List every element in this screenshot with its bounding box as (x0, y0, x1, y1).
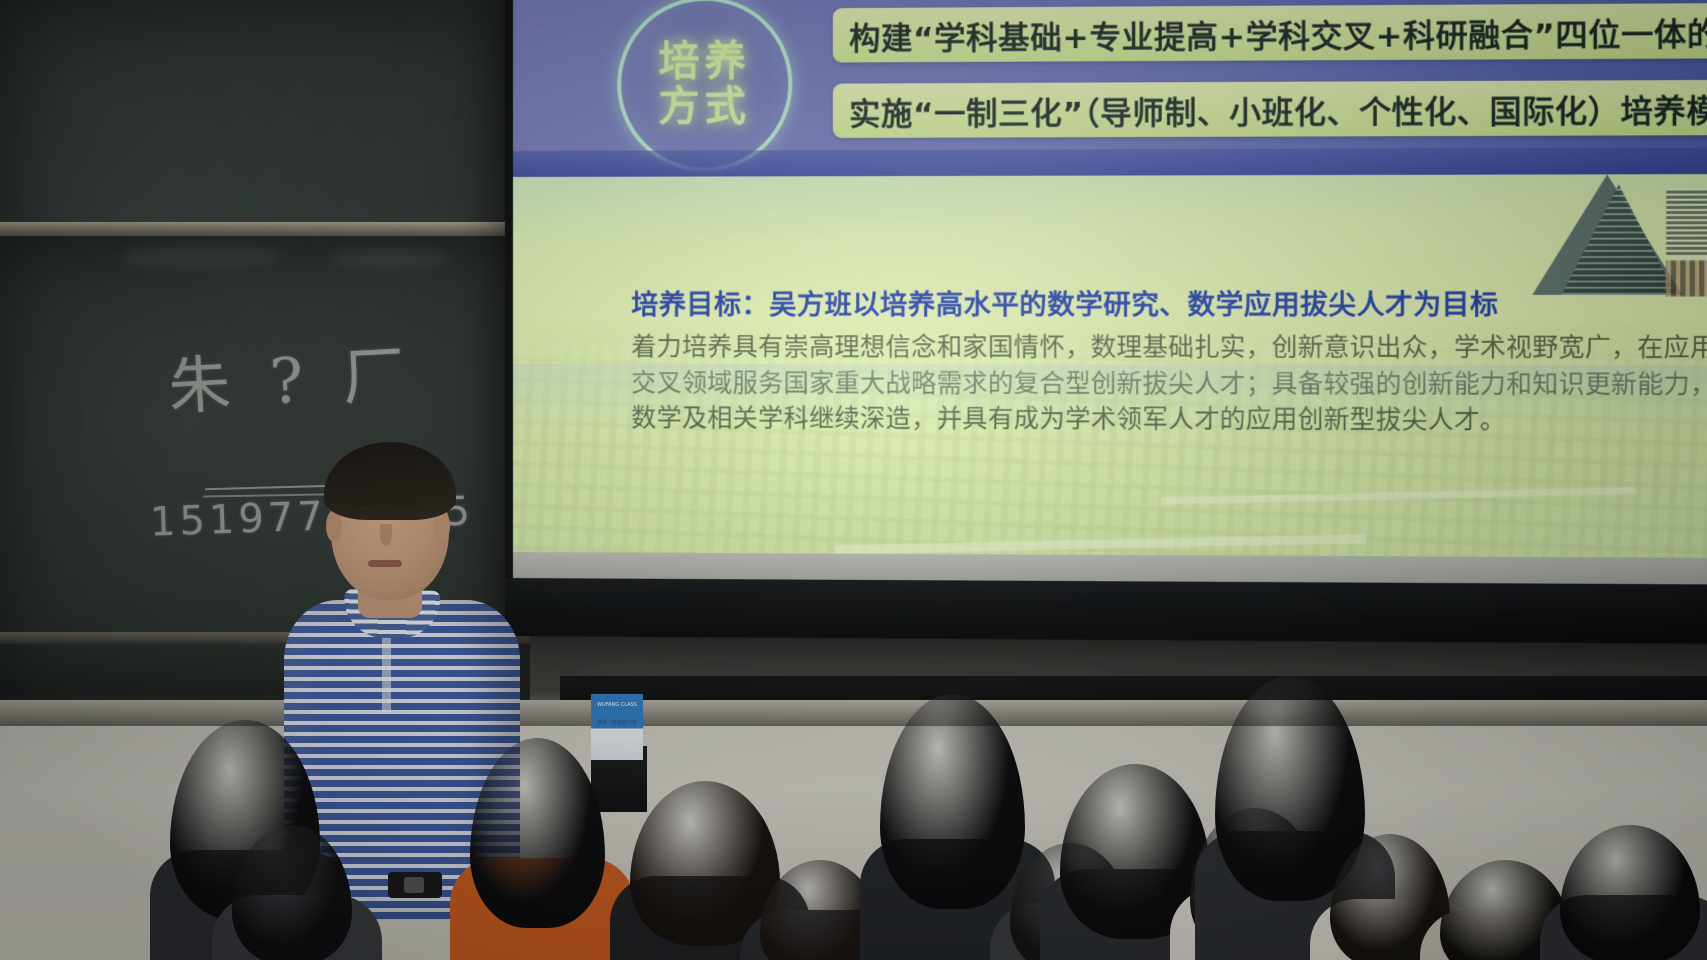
slide-badge-circle: 培养 方式 (617, 0, 792, 172)
slide-bullet-1-text: 构建“学科基础+专业提高+学科交叉+科研融合”四位一体的课程体系 (849, 7, 1707, 58)
slide-body: 培养目标：吴方班以培养高水平的数学研究、数学应用拔尖人才为目标 着力培养具有崇高… (513, 174, 1707, 599)
screenshot-root: 朱 ? 厂 15197781105 培养 方式 构建“学科基础+专业提高+学科交… (0, 0, 1707, 960)
slide-header-band: 培养 方式 构建“学科基础+专业提高+学科交叉+科研融合”四位一体的课程体系 实… (513, 0, 1707, 177)
collage-facade-photo (1666, 188, 1707, 258)
chalk-rail-upper (0, 222, 530, 236)
audience-row (0, 660, 1707, 960)
slide-bullet-2-text: 实施“一制三化”（导师制、小班化、个性化、国际化）培养模式 (849, 84, 1707, 133)
chalk-smudge (330, 250, 450, 268)
badge-line-1: 培养 (658, 40, 751, 84)
slide-bullet-2: 实施“一制三化”（导师制、小班化、个性化、国际化）培养模式 (833, 80, 1707, 138)
projected-slide: 培养 方式 构建“学科基础+专业提高+学科交叉+科研融合”四位一体的课程体系 实… (513, 0, 1707, 599)
speaker-nose (380, 524, 392, 546)
slide-bullet-1: 构建“学科基础+专业提高+学科交叉+科研融合”四位一体的课程体系 (833, 3, 1707, 63)
slide-goal-heading: 培养目标：吴方班以培养高水平的数学研究、数学应用拔尖人才为目标 (631, 283, 1498, 323)
speaker-brow-right (394, 502, 418, 506)
collage-crowd-photo (1666, 260, 1707, 297)
slide-aerial-horizon (513, 364, 1707, 427)
audience-person-head (470, 738, 605, 928)
slide-corner-photo-collage (1497, 174, 1707, 297)
speaker-mouth (368, 560, 402, 567)
audience-person-head (1560, 825, 1700, 960)
audience-person-head (880, 694, 1025, 909)
chalk-smudge (120, 246, 280, 268)
badge-line-2: 方式 (658, 85, 751, 129)
speaker-eye-right (396, 512, 416, 519)
speaker-hair (324, 442, 456, 520)
projection-screen-frame: 培养 方式 构建“学科基础+专业提高+学科交叉+科研融合”四位一体的课程体系 实… (505, 0, 1707, 630)
speaker-brow-left (350, 502, 374, 506)
screen-bottom-frame-bar (505, 578, 1707, 644)
speaker-eye-left (352, 512, 372, 519)
